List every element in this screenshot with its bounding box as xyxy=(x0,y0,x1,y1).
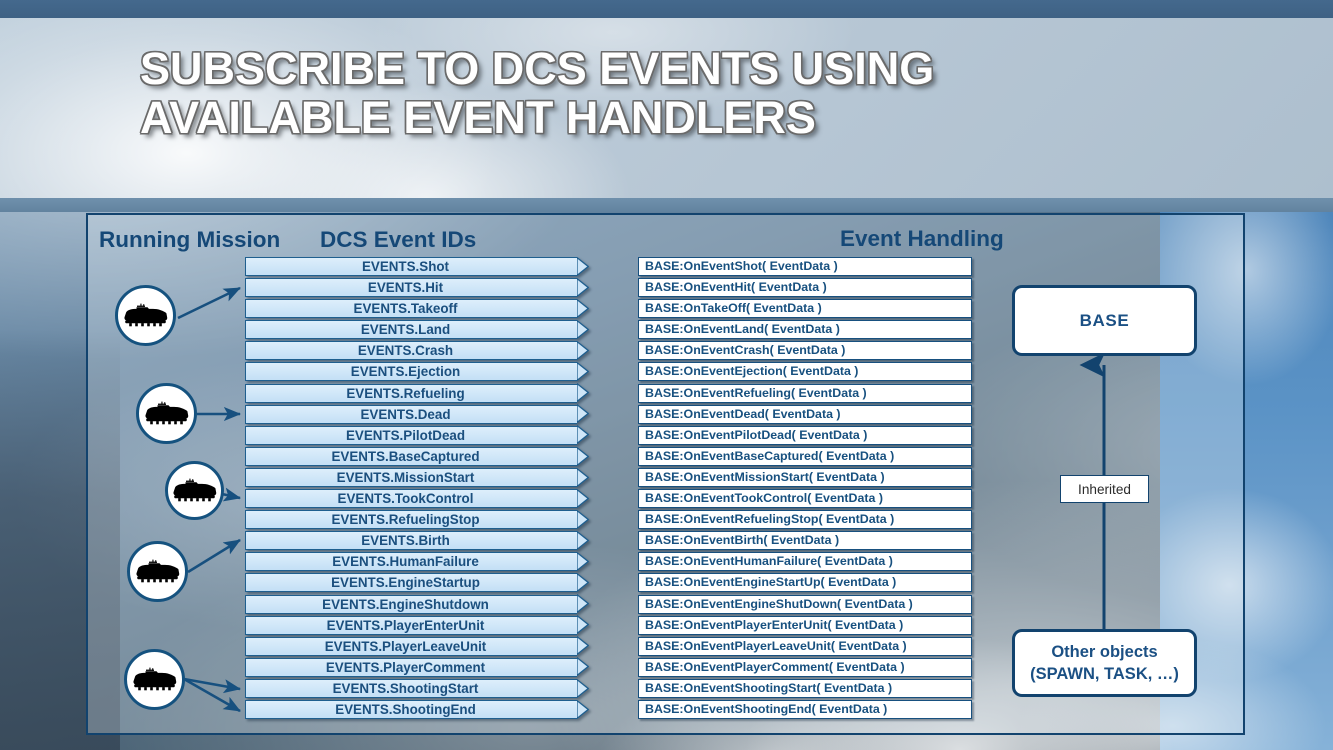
chevron-arrow-icon xyxy=(577,257,589,276)
column-heading-running-mission: Running Mission xyxy=(99,227,280,253)
event-id-label: EVENTS.Birth xyxy=(246,532,565,549)
event-id-label: EVENTS.Crash xyxy=(246,342,565,359)
mission-unit-icon[interactable] xyxy=(124,649,185,710)
chevron-arrow-icon xyxy=(577,636,589,655)
event-id-label: EVENTS.RefuelingStop xyxy=(246,511,565,528)
chevron-arrow-icon xyxy=(577,700,589,719)
event-handler-label: BASE:OnEventMissionStart( EventData ) xyxy=(639,469,971,486)
chevron-arrow-icon xyxy=(577,615,589,634)
event-handler-row[interactable]: BASE:OnEventBirth( EventData ) xyxy=(638,531,972,550)
event-handler-row[interactable]: BASE:OnEventPlayerEnterUnit( EventData ) xyxy=(638,616,972,635)
slide-canvas: SUBSCRIBE TO DCS EVENTS USING AVAILABLE … xyxy=(0,0,1333,750)
event-id-row[interactable]: EVENTS.TookControl xyxy=(245,489,577,508)
chevron-arrow-icon xyxy=(577,447,589,466)
event-id-label: EVENTS.EngineStartup xyxy=(246,574,565,591)
event-id-row[interactable]: EVENTS.Takeoff xyxy=(245,299,577,318)
event-handler-label: BASE:OnEventEngineStartUp( EventData ) xyxy=(639,574,971,591)
chevron-arrow-icon xyxy=(577,510,589,529)
chevron-arrow-icon xyxy=(577,531,589,550)
column-heading-event-handling: Event Handling xyxy=(840,226,1004,252)
event-handler-row[interactable]: BASE:OnEventPlayerComment( EventData ) xyxy=(638,658,972,677)
event-id-label: EVENTS.ShootingEnd xyxy=(246,701,565,718)
event-id-label: EVENTS.Hit xyxy=(246,279,565,296)
event-handler-label: BASE:OnEventRefuelingStop( EventData ) xyxy=(639,511,971,528)
event-handler-row[interactable]: BASE:OnEventEngineStartUp( EventData ) xyxy=(638,573,972,592)
mission-unit-icon[interactable] xyxy=(127,541,188,602)
event-id-row[interactable]: EVENTS.RefuelingStop xyxy=(245,510,577,529)
mission-unit-icon[interactable] xyxy=(136,383,197,444)
chevron-arrow-icon xyxy=(577,657,589,676)
event-id-label: EVENTS.PilotDead xyxy=(246,427,565,444)
event-handler-label: BASE:OnEventTookControl( EventData ) xyxy=(639,490,971,507)
event-handler-label: BASE:OnEventBirth( EventData ) xyxy=(639,532,971,549)
event-handler-row[interactable]: BASE:OnEventPlayerLeaveUnit( EventData ) xyxy=(638,637,972,656)
event-id-label: EVENTS.EngineShutdown xyxy=(246,596,565,613)
event-handler-row[interactable]: BASE:OnEventRefueling( EventData ) xyxy=(638,384,972,403)
event-handler-row[interactable]: BASE:OnEventHit( EventData ) xyxy=(638,278,972,297)
top-accent-strip xyxy=(0,0,1333,18)
event-id-row[interactable]: EVENTS.MissionStart xyxy=(245,468,577,487)
event-handler-row[interactable]: BASE:OnEventDead( EventData ) xyxy=(638,405,972,424)
event-id-row[interactable]: EVENTS.Crash xyxy=(245,341,577,360)
event-handler-label: BASE:OnEventPlayerLeaveUnit( EventData ) xyxy=(639,638,971,655)
event-id-row[interactable]: EVENTS.ShootingStart xyxy=(245,679,577,698)
chevron-arrow-icon xyxy=(577,489,589,508)
page-title-line-2: AVAILABLE EVENT HANDLERS xyxy=(140,93,1190,142)
event-handler-row[interactable]: BASE:OnEventShot( EventData ) xyxy=(638,257,972,276)
event-id-row[interactable]: EVENTS.Ejection xyxy=(245,362,577,381)
event-id-label: EVENTS.Takeoff xyxy=(246,300,565,317)
other-objects-line-1: Other objects xyxy=(1030,641,1179,663)
event-handler-row[interactable]: BASE:OnEventRefuelingStop( EventData ) xyxy=(638,510,972,529)
event-id-label: EVENTS.Land xyxy=(246,321,565,338)
event-handler-label: BASE:OnTakeOff( EventData ) xyxy=(639,300,971,317)
event-handler-list: BASE:OnEventShot( EventData )BASE:OnEven… xyxy=(638,257,972,721)
event-id-row[interactable]: EVENTS.Refueling xyxy=(245,384,577,403)
class-box-base[interactable]: BASE xyxy=(1012,285,1197,356)
event-id-label: EVENTS.BaseCaptured xyxy=(246,448,565,465)
event-handler-row[interactable]: BASE:OnEventEngineShutDown( EventData ) xyxy=(638,595,972,614)
page-title-line-1: SUBSCRIBE TO DCS EVENTS USING xyxy=(140,44,1190,93)
chevron-arrow-icon xyxy=(577,468,589,487)
chevron-arrow-icon xyxy=(577,299,589,318)
event-id-label: EVENTS.PlayerComment xyxy=(246,659,565,676)
event-handler-row[interactable]: BASE:OnEventMissionStart( EventData ) xyxy=(638,468,972,487)
event-handler-label: BASE:OnEventHumanFailure( EventData ) xyxy=(639,553,971,570)
chevron-arrow-icon xyxy=(577,404,589,423)
chevron-arrow-icon xyxy=(577,341,589,360)
chevron-arrow-icon xyxy=(577,679,589,698)
event-handler-label: BASE:OnEventShootingStart( EventData ) xyxy=(639,680,971,697)
inheritance-label: Inherited xyxy=(1060,475,1149,503)
event-handler-label: BASE:OnEventBaseCaptured( EventData ) xyxy=(639,448,971,465)
event-handler-label: BASE:OnEventRefueling( EventData ) xyxy=(639,385,971,402)
chevron-arrow-icon xyxy=(577,362,589,381)
column-heading-dcs-event-ids: DCS Event IDs xyxy=(320,227,476,253)
event-id-label: EVENTS.Refueling xyxy=(246,385,565,402)
page-title: SUBSCRIBE TO DCS EVENTS USING AVAILABLE … xyxy=(140,44,1190,142)
event-id-label: EVENTS.HumanFailure xyxy=(246,553,565,570)
event-handler-label: BASE:OnEventLand( EventData ) xyxy=(639,321,971,338)
event-id-label: EVENTS.ShootingStart xyxy=(246,680,565,697)
event-handler-label: BASE:OnEventShot( EventData ) xyxy=(639,258,971,275)
event-handler-label: BASE:OnEventPlayerEnterUnit( EventData ) xyxy=(639,617,971,634)
event-id-label: EVENTS.MissionStart xyxy=(246,469,565,486)
event-handler-row[interactable]: BASE:OnEventTookControl( EventData ) xyxy=(638,489,972,508)
event-id-row[interactable]: EVENTS.PlayerEnterUnit xyxy=(245,616,577,635)
event-id-row[interactable]: EVENTS.Birth xyxy=(245,531,577,550)
event-id-row[interactable]: EVENTS.EngineShutdown xyxy=(245,595,577,614)
event-handler-row[interactable]: BASE:OnEventShootingStart( EventData ) xyxy=(638,679,972,698)
event-handler-row[interactable]: BASE:OnTakeOff( EventData ) xyxy=(638,299,972,318)
event-handler-row[interactable]: BASE:OnEventLand( EventData ) xyxy=(638,320,972,339)
event-handler-label: BASE:OnEventDead( EventData ) xyxy=(639,406,971,423)
title-banner-underline xyxy=(0,198,1333,212)
chevron-arrow-icon xyxy=(577,594,589,613)
event-handler-label: BASE:OnEventShootingEnd( EventData ) xyxy=(639,701,971,718)
event-handler-row[interactable]: BASE:OnEventEjection( EventData ) xyxy=(638,362,972,381)
event-id-list: EVENTS.ShotEVENTS.HitEVENTS.TakeoffEVENT… xyxy=(245,257,577,721)
mission-unit-icon[interactable] xyxy=(165,461,224,520)
event-handler-label: BASE:OnEventPlayerComment( EventData ) xyxy=(639,659,971,676)
event-handler-row[interactable]: BASE:OnEventCrash( EventData ) xyxy=(638,341,972,360)
event-id-row[interactable]: EVENTS.Dead xyxy=(245,405,577,424)
class-box-other-objects[interactable]: Other objects (SPAWN, TASK, …) xyxy=(1012,629,1197,697)
event-id-row[interactable]: EVENTS.HumanFailure xyxy=(245,552,577,571)
event-handler-label: BASE:OnEventPilotDead( EventData ) xyxy=(639,427,971,444)
event-id-row[interactable]: EVENTS.EngineStartup xyxy=(245,573,577,592)
chevron-arrow-icon xyxy=(577,320,589,339)
chevron-arrow-icon xyxy=(577,383,589,402)
event-id-row[interactable]: EVENTS.PlayerComment xyxy=(245,658,577,677)
event-id-label: EVENTS.PlayerEnterUnit xyxy=(246,617,565,634)
event-id-label: EVENTS.Shot xyxy=(246,258,565,275)
mission-unit-icon[interactable] xyxy=(115,285,176,346)
event-id-row[interactable]: EVENTS.Shot xyxy=(245,257,577,276)
event-id-row[interactable]: EVENTS.BaseCaptured xyxy=(245,447,577,466)
event-handler-row[interactable]: BASE:OnEventShootingEnd( EventData ) xyxy=(638,700,972,719)
chevron-arrow-icon xyxy=(577,425,589,444)
event-handler-label: BASE:OnEventCrash( EventData ) xyxy=(639,342,971,359)
event-id-row[interactable]: EVENTS.Hit xyxy=(245,278,577,297)
chevron-arrow-icon xyxy=(577,278,589,297)
event-handler-row[interactable]: BASE:OnEventHumanFailure( EventData ) xyxy=(638,552,972,571)
other-objects-line-2: (SPAWN, TASK, …) xyxy=(1030,663,1179,685)
event-handler-row[interactable]: BASE:OnEventBaseCaptured( EventData ) xyxy=(638,447,972,466)
event-handler-label: BASE:OnEventHit( EventData ) xyxy=(639,279,971,296)
event-id-label: EVENTS.Ejection xyxy=(246,363,565,380)
chevron-arrow-icon xyxy=(577,573,589,592)
event-id-label: EVENTS.TookControl xyxy=(246,490,565,507)
event-handler-label: BASE:OnEventEngineShutDown( EventData ) xyxy=(639,596,971,613)
event-id-label: EVENTS.Dead xyxy=(246,406,565,423)
event-id-row[interactable]: EVENTS.PlayerLeaveUnit xyxy=(245,637,577,656)
event-id-label: EVENTS.PlayerLeaveUnit xyxy=(246,638,565,655)
event-id-row[interactable]: EVENTS.PilotDead xyxy=(245,426,577,445)
event-id-row[interactable]: EVENTS.ShootingEnd xyxy=(245,700,577,719)
chevron-arrow-icon xyxy=(577,552,589,571)
event-handler-row[interactable]: BASE:OnEventPilotDead( EventData ) xyxy=(638,426,972,445)
event-handler-label: BASE:OnEventEjection( EventData ) xyxy=(639,363,971,380)
event-id-row[interactable]: EVENTS.Land xyxy=(245,320,577,339)
